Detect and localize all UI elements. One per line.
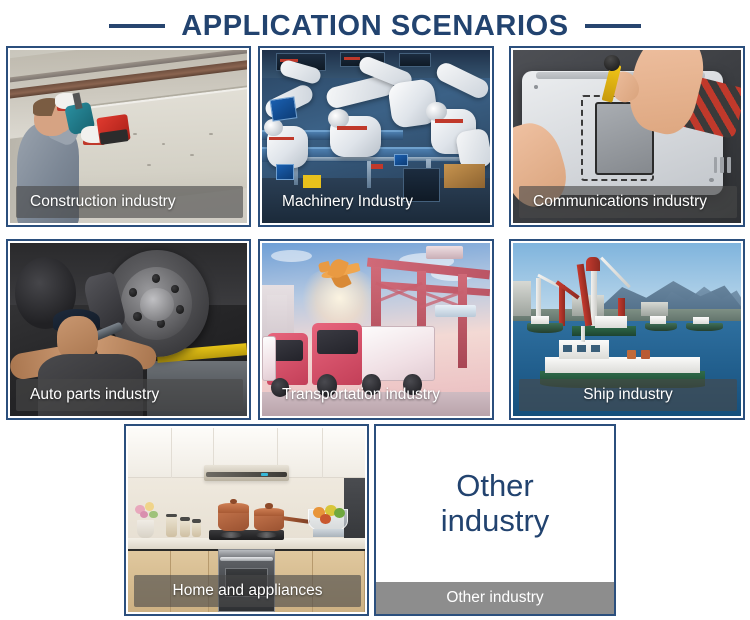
caption-bar-home-appliances: Home and appliances (134, 575, 361, 607)
transportation-photo: Transportation industry (262, 243, 490, 416)
caption-bar-machinery: Machinery Industry (268, 186, 486, 218)
page-title-row: APPLICATION SCENARIOS (0, 6, 750, 46)
caption-bar-other: Other industry (376, 582, 614, 614)
scenario-card-other[interactable]: Other industry Other industry (374, 424, 616, 616)
auto-parts-photo: Auto parts industry (10, 243, 247, 416)
scenario-card-home-appliances[interactable]: Home and appliances (124, 424, 369, 616)
scenario-card-ship[interactable]: Ship industry (509, 239, 745, 420)
caption-text-machinery: Machinery Industry (268, 193, 413, 211)
scenario-card-machinery[interactable]: Machinery Industry (258, 46, 494, 227)
other-industry-label: Other industry (441, 469, 550, 538)
page-title: APPLICATION SCENARIOS (181, 10, 568, 43)
scenario-card-construction[interactable]: Construction industry (6, 46, 251, 227)
other-industry-line-2: industry (441, 504, 550, 539)
caption-bar-communications: Communications industry (519, 186, 737, 218)
caption-bar-transportation: Transportation industry (268, 379, 486, 411)
scenario-row-2: Auto parts industry (0, 239, 750, 420)
caption-bar-construction: Construction industry (16, 186, 243, 218)
ship-photo: Ship industry (513, 243, 741, 416)
caption-text-auto-parts: Auto parts industry (16, 386, 159, 404)
caption-text-communications: Communications industry (519, 193, 707, 211)
scenario-card-auto-parts[interactable]: Auto parts industry (6, 239, 251, 420)
caption-text-transportation: Transportation industry (268, 386, 440, 404)
title-dash-left (109, 24, 165, 28)
scenario-row-1: Construction industry (0, 46, 750, 227)
other-industry-line-1: Other (441, 469, 550, 504)
home-appliances-photo: Home and appliances (128, 428, 365, 612)
application-scenarios-page: APPLICATION SCENARIOS (0, 0, 750, 620)
machinery-photo: Machinery Industry (262, 50, 490, 223)
caption-bar-auto-parts: Auto parts industry (16, 379, 243, 411)
scenario-row-3: Home and appliances Other industry Other… (0, 424, 750, 616)
scenario-card-transportation[interactable]: Transportation industry (258, 239, 494, 420)
caption-bar-ship: Ship industry (519, 379, 737, 411)
communications-photo: Communications industry (513, 50, 741, 223)
construction-photo: Construction industry (10, 50, 247, 223)
caption-text-other: Other industry (446, 589, 543, 607)
caption-text-construction: Construction industry (16, 193, 176, 211)
title-dash-right (585, 24, 641, 28)
scenario-card-communications[interactable]: Communications industry (509, 46, 745, 227)
caption-text-home-appliances: Home and appliances (173, 582, 323, 600)
other-industry-face: Other industry (378, 428, 612, 580)
caption-text-ship: Ship industry (583, 386, 673, 404)
